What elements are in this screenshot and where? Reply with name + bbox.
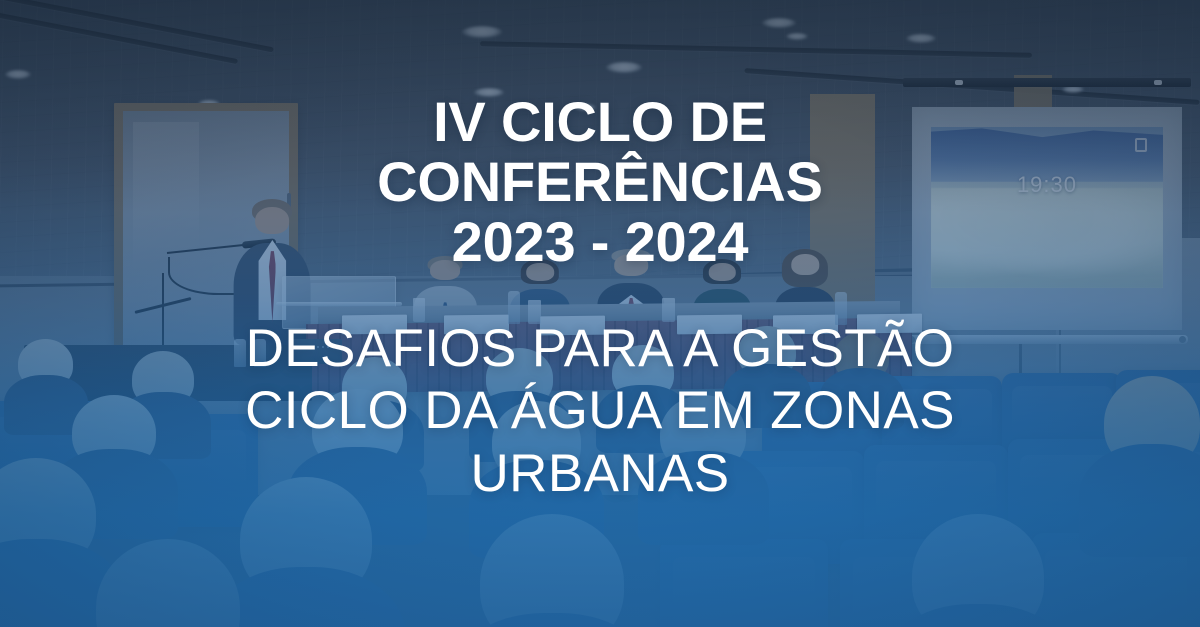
conference-poster: 19:30	[0, 0, 1200, 627]
subheadline-line-3: URBANAS	[245, 443, 955, 506]
headline-line-2: CONFERÊNCIAS	[377, 152, 823, 212]
headline-line-1: IV CICLO DE	[377, 92, 823, 152]
poster-text-content: IV CICLO DE CONFERÊNCIAS 2023 - 2024 DES…	[0, 0, 1200, 627]
poster-subheadline: DESAFIOS PARA A GESTÃO CICLO DA ÁGUA EM …	[245, 318, 955, 506]
headline-line-3: 2023 - 2024	[377, 212, 823, 272]
subheadline-line-2: CICLO DA ÁGUA EM ZONAS	[245, 380, 955, 443]
poster-headline: IV CICLO DE CONFERÊNCIAS 2023 - 2024	[377, 92, 823, 272]
subheadline-line-1: DESAFIOS PARA A GESTÃO	[245, 318, 955, 381]
